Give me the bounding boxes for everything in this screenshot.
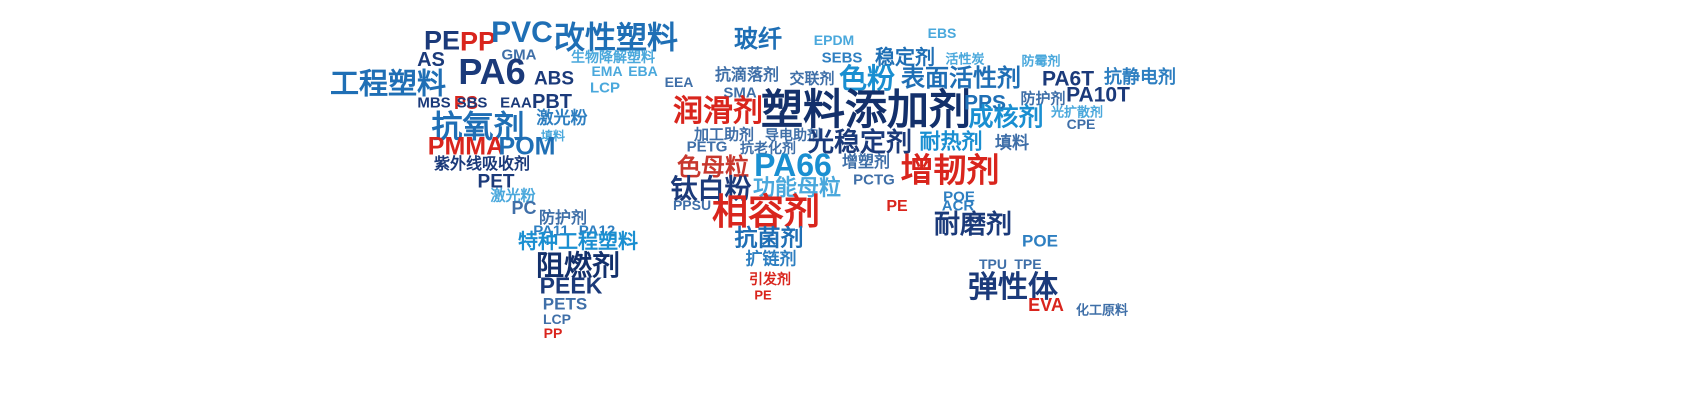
word-abs-16[interactable]: ABS — [534, 70, 574, 89]
word-cjk-47[interactable]: 耐热剂 — [920, 132, 983, 153]
word-ema-17[interactable]: EMA — [591, 64, 622, 78]
word-cjk-13[interactable]: 活性炭 — [945, 53, 984, 66]
word-cjk-76[interactable]: 扩链剂 — [746, 251, 797, 268]
word-mbs-38[interactable]: MBS — [417, 96, 450, 111]
word-cjk-48[interactable]: 填料 — [995, 135, 1029, 152]
word-cjk-42[interactable]: 激光粉 — [537, 110, 588, 127]
word-cjk-57[interactable]: 增韧剂 — [901, 154, 1000, 187]
word-epdm-6[interactable]: EPDM — [814, 33, 854, 47]
word-cjk-70[interactable]: 耐磨剂 — [934, 211, 1012, 237]
word-cpe-37[interactable]: CPE — [1067, 117, 1096, 131]
word-pctg-59[interactable]: PCTG — [853, 173, 895, 188]
word-eea-19[interactable]: EEA — [665, 75, 694, 89]
word-cjk-20[interactable]: 抗滴落剂 — [715, 68, 779, 84]
word-cjk-31[interactable]: 塑料添加剂 — [761, 89, 971, 131]
word-eba-18[interactable]: EBA — [628, 64, 658, 78]
word-eaa-40[interactable]: EAA — [500, 96, 532, 111]
word-pets-84[interactable]: PETS — [543, 296, 587, 313]
word-pc-64[interactable]: PC — [511, 199, 536, 217]
word-cjk-35[interactable]: 成核剂 — [968, 106, 1043, 131]
word-lcp-27[interactable]: LCP — [590, 81, 620, 96]
word-as-8[interactable]: AS — [417, 50, 445, 70]
word-cjk-56[interactable]: 增塑剂 — [842, 155, 890, 171]
word-cjk-80[interactable]: 引发剂 — [749, 272, 791, 286]
word-cjk-21[interactable]: 交联剂 — [789, 72, 834, 87]
word-petg-51[interactable]: PETG — [687, 140, 728, 155]
word-lcp-87[interactable]: LCP — [543, 312, 571, 326]
word-tpe-79[interactable]: TPE — [1014, 257, 1041, 271]
word-poe-75[interactable]: POE — [1022, 233, 1058, 250]
word-cjk-73[interactable]: 特种工程塑料 — [518, 232, 638, 252]
word-pa6-9[interactable]: PA6 — [458, 54, 525, 90]
word-pa10t-34[interactable]: PA10T — [1066, 85, 1130, 106]
word-cjk-86[interactable]: 化工原料 — [1076, 304, 1128, 317]
word-pp-88[interactable]: PP — [544, 326, 563, 340]
word-cjk-74[interactable]: 抗菌剂 — [735, 227, 804, 250]
word-eva-85[interactable]: EVA — [1028, 296, 1064, 314]
word-cloud: PEPPPVCGMA改性塑料玻纤EPDMEBSASPA6生物降解塑料SEBS稳定… — [0, 0, 1707, 400]
word-pe-83[interactable]: PE — [754, 289, 771, 302]
word-sbs-39[interactable]: SBS — [457, 96, 488, 111]
word-ppsu-65[interactable]: PPSU — [673, 198, 711, 212]
word-pvc-2[interactable]: PVC — [491, 18, 553, 48]
word-ebs-7[interactable]: EBS — [928, 26, 957, 40]
word-cjk-10[interactable]: 生物降解塑料 — [571, 50, 655, 64]
word-pe-67[interactable]: PE — [886, 199, 907, 215]
word-cjk-14[interactable]: 防霉剂 — [1021, 55, 1060, 68]
word-cjk-30[interactable]: 润滑剂 — [673, 97, 763, 127]
word-tpu-78[interactable]: TPU — [979, 257, 1007, 271]
word-cjk-5[interactable]: 玻纤 — [734, 28, 782, 52]
